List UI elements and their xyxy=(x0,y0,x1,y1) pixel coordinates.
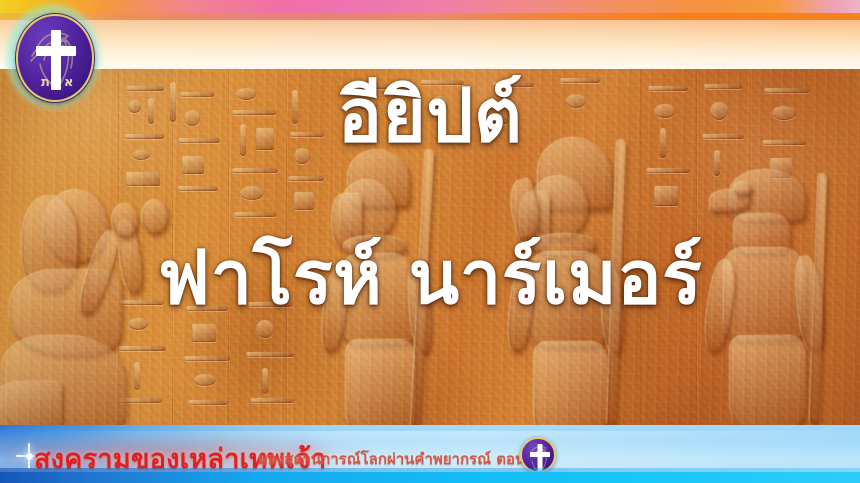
header-ribbon-stripe xyxy=(0,0,860,13)
bottom-banner: สงครามของเหล่าเทพเจ้า มองสถานการณ์โลกผ่า… xyxy=(0,425,860,483)
banner-bottom-accent-stripe xyxy=(0,472,860,483)
header-band xyxy=(0,0,860,69)
title-line-1: อียิปต์ xyxy=(0,78,860,156)
title-line-2: ฟาโรห์ นาร์เมอร์ xyxy=(0,156,860,318)
title-block: อียิปต์ ฟาโรห์ นาร์เมอร์ xyxy=(0,78,860,317)
header-fade xyxy=(0,51,860,69)
lion-face-stroke xyxy=(31,50,36,61)
video-thumbnail: ת א อียิปต์ ฟาโรห์ นาร์เมอร์ สงครามของเห… xyxy=(0,0,860,483)
cross-icon xyxy=(530,444,550,471)
